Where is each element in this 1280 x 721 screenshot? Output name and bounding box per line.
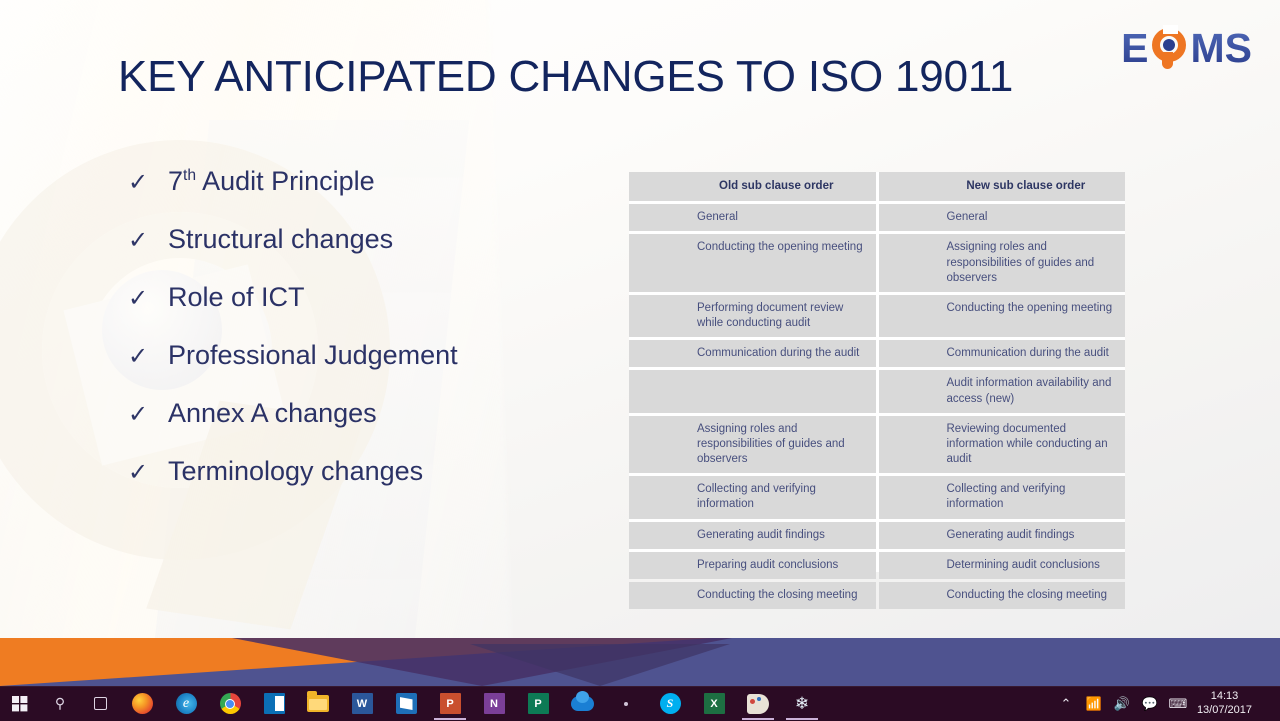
taskbar-app-store[interactable] xyxy=(384,687,428,720)
publisher-icon: P xyxy=(528,693,549,714)
list-item-label: Structural changes xyxy=(168,224,393,255)
list-item-label: Role of ICT xyxy=(168,282,305,313)
cell-text: Reviewing documented information while c… xyxy=(947,422,1116,468)
table-row: Generating audit findings Generating aud… xyxy=(629,522,1125,549)
table-row: Performing document review while conduct… xyxy=(629,295,1125,337)
table-row: Conducting the closing meeting Conductin… xyxy=(629,582,1125,609)
cell-text: Assigning roles and responsibilities of … xyxy=(697,422,866,468)
outlook-icon xyxy=(264,693,285,714)
cell-text: Collecting and verifying information xyxy=(947,482,1116,512)
list-item: ✓ Terminology changes xyxy=(128,456,598,514)
show-desktop-button[interactable] xyxy=(1260,687,1274,721)
list-item-label: 7th Audit Principle xyxy=(168,166,375,197)
onedrive-icon xyxy=(571,696,594,711)
list-item: ✓ Annex A changes xyxy=(128,398,598,456)
table-header-cell-new: New sub clause order xyxy=(879,172,1126,201)
cell-text: Communication during the audit xyxy=(697,346,866,361)
cell-text: Conducting the opening meeting xyxy=(947,301,1116,331)
table-cell-old: Communication during the audit xyxy=(629,340,876,367)
action-center-icon[interactable]: 💬 xyxy=(1137,687,1163,721)
chrome-icon xyxy=(220,693,241,714)
check-icon: ✓ xyxy=(128,287,168,311)
table-cell-old: Performing document review while conduct… xyxy=(629,295,876,337)
table-header-cell-old: Old sub clause order xyxy=(629,172,876,201)
taskbar-app-powerpoint[interactable]: P xyxy=(428,687,472,720)
check-icon: ✓ xyxy=(128,461,168,485)
cell-text: Generating audit findings xyxy=(697,528,866,543)
sub-clause-comparison-table: Old sub clause order New sub clause orde… xyxy=(629,172,1125,572)
table-cell-old: Preparing audit conclusions xyxy=(629,552,876,579)
bullet-list: ✓ 7th Audit Principle ✓ Structural chang… xyxy=(128,166,598,514)
pinned-dot-icon xyxy=(624,702,628,706)
search-button[interactable]: ⚲ xyxy=(40,687,80,720)
table-cell-old: General xyxy=(629,204,876,231)
powerpoint-icon: P xyxy=(440,693,461,714)
column-header-label: New sub clause order xyxy=(947,179,1116,194)
cell-text: Conducting the opening meeting xyxy=(697,240,866,286)
list-item: ✓ Role of ICT xyxy=(128,282,598,340)
clock-date: 13/07/2017 xyxy=(1197,704,1252,718)
skype-icon: S xyxy=(660,693,681,714)
eqms-logo: E MS xyxy=(1121,26,1252,70)
list-item-label: Annex A changes xyxy=(168,398,377,429)
table-cell-new: General xyxy=(879,204,1126,231)
list-item-label: Terminology changes xyxy=(168,456,423,487)
table-row: Conducting the opening meeting Assigning… xyxy=(629,234,1125,292)
table-cell-new: Determining audit conclusions xyxy=(879,552,1126,579)
word-icon: W xyxy=(352,693,373,714)
start-button[interactable] xyxy=(0,687,40,720)
task-view-icon xyxy=(94,697,107,710)
table-row: Collecting and verifying information Col… xyxy=(629,476,1125,518)
table-row: General General xyxy=(629,204,1125,231)
list-item: ✓ Structural changes xyxy=(128,224,598,282)
taskbar-app-file-explorer[interactable] xyxy=(296,687,340,720)
table-cell-new: Collecting and verifying information xyxy=(879,476,1126,518)
taskbar-app-outlook[interactable] xyxy=(252,687,296,720)
logo-q-magnifier-icon xyxy=(1150,28,1190,69)
keyboard-icon[interactable]: ⌨ xyxy=(1165,687,1191,721)
table-cell-old xyxy=(629,370,876,412)
clock-time: 14:13 xyxy=(1197,690,1252,704)
system-tray[interactable]: ⌃ 📶 🔊 💬 ⌨ 14:13 13/07/2017 xyxy=(1053,687,1280,720)
table-header-row: Old sub clause order New sub clause orde… xyxy=(629,172,1125,201)
edge-icon: e xyxy=(176,693,197,714)
powerpoint-slide[interactable]: KEY ANTICIPATED CHANGES TO ISO 19011 E M… xyxy=(0,0,1280,686)
network-icon[interactable]: 📶 xyxy=(1081,687,1107,721)
column-header-label: Old sub clause order xyxy=(697,179,866,194)
table-row: Audit information availability and acces… xyxy=(629,370,1125,412)
firefox-icon xyxy=(132,693,153,714)
cell-text: Conducting the closing meeting xyxy=(947,588,1116,603)
onenote-icon: N xyxy=(484,693,505,714)
table-row: Preparing audit conclusions Determining … xyxy=(629,552,1125,579)
taskbar-app-paint[interactable] xyxy=(736,687,780,720)
paint-icon xyxy=(747,694,769,714)
list-item: ✓ 7th Audit Principle xyxy=(128,166,598,224)
show-hidden-icons-chevron-icon[interactable]: ⌃ xyxy=(1053,687,1079,721)
table-row: Assigning roles and responsibilities of … xyxy=(629,416,1125,474)
table-cell-old: Generating audit findings xyxy=(629,522,876,549)
check-icon: ✓ xyxy=(128,345,168,369)
table-cell-new: Generating audit findings xyxy=(879,522,1126,549)
table-cell-old: Conducting the closing meeting xyxy=(629,582,876,609)
table-cell-new: Assigning roles and responsibilities of … xyxy=(879,234,1126,292)
store-icon xyxy=(396,693,417,714)
taskbar-app-onenote[interactable]: N xyxy=(472,687,516,720)
cell-text: Assigning roles and responsibilities of … xyxy=(947,240,1116,286)
taskbar-app-word[interactable]: W xyxy=(340,687,384,720)
taskbar-app-onedrive[interactable] xyxy=(560,687,604,720)
cell-text: General xyxy=(947,210,1116,225)
cell-text: General xyxy=(697,210,866,225)
logo-letter-e: E xyxy=(1121,28,1148,69)
page-title: KEY ANTICIPATED CHANGES TO ISO 19011 xyxy=(118,52,1013,102)
cell-text: Conducting the closing meeting xyxy=(697,588,866,603)
snowflake-icon: ❄ xyxy=(795,695,809,712)
check-icon: ✓ xyxy=(128,403,168,427)
check-icon: ✓ xyxy=(128,229,168,253)
excel-icon: X xyxy=(704,693,725,714)
table-cell-new: Reviewing documented information while c… xyxy=(879,416,1126,474)
table-cell-old: Conducting the opening meeting xyxy=(629,234,876,292)
clock[interactable]: 14:13 13/07/2017 xyxy=(1193,687,1258,721)
search-icon: ⚲ xyxy=(55,695,65,712)
list-item-label: Professional Judgement xyxy=(168,340,458,371)
cell-text: Communication during the audit xyxy=(947,346,1116,361)
cell-text: Generating audit findings xyxy=(947,528,1116,543)
table-row: Communication during the audit Communica… xyxy=(629,340,1125,367)
table-cell-new: Conducting the closing meeting xyxy=(879,582,1126,609)
slide-footer-banner xyxy=(0,638,1280,686)
windows-taskbar[interactable]: ⚲ e W P N P S X ❄ xyxy=(0,686,1280,720)
taskbar-app-chrome[interactable] xyxy=(208,687,252,720)
cell-text: Collecting and verifying information xyxy=(697,482,866,512)
file-explorer-icon xyxy=(307,695,329,712)
check-icon: ✓ xyxy=(128,171,168,195)
table-cell-old: Collecting and verifying information xyxy=(629,476,876,518)
cell-text: Performing document review while conduct… xyxy=(697,301,866,331)
list-item: ✓ Professional Judgement xyxy=(128,340,598,398)
cell-text: Audit information availability and acces… xyxy=(947,376,1116,406)
taskbar-app-edge[interactable]: e xyxy=(164,687,208,720)
taskbar-app-skype[interactable]: S xyxy=(648,687,692,720)
cell-text: Preparing audit conclusions xyxy=(697,558,866,573)
table-cell-new: Audit information availability and acces… xyxy=(879,370,1126,412)
taskbar-app-snowflake[interactable]: ❄ xyxy=(780,687,824,720)
task-view-button[interactable] xyxy=(80,687,120,720)
taskbar-app-pinned-dot[interactable] xyxy=(604,687,648,720)
taskbar-app-publisher[interactable]: P xyxy=(516,687,560,720)
table-cell-new: Communication during the audit xyxy=(879,340,1126,367)
table-cell-new: Conducting the opening meeting xyxy=(879,295,1126,337)
taskbar-app-excel[interactable]: X xyxy=(692,687,736,720)
taskbar-app-firefox[interactable] xyxy=(120,687,164,720)
table-cell-old: Assigning roles and responsibilities of … xyxy=(629,416,876,474)
cell-text: Determining audit conclusions xyxy=(947,558,1116,573)
logo-letters-ms: MS xyxy=(1191,28,1253,69)
volume-icon[interactable]: 🔊 xyxy=(1109,687,1135,721)
cell-text xyxy=(697,376,866,406)
